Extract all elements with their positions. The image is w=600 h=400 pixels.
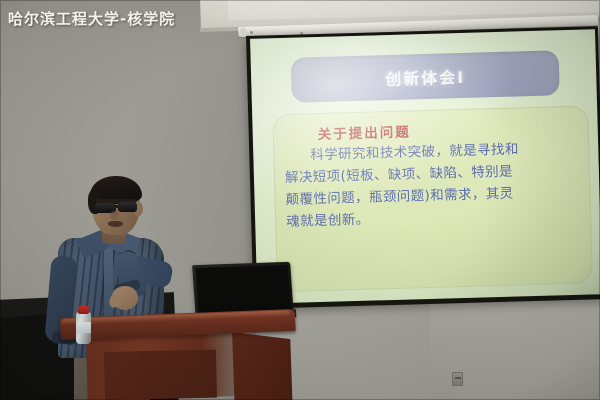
podium-side-face bbox=[232, 332, 293, 400]
glasses-right-lens-icon bbox=[118, 202, 137, 212]
projection-screen: 创新体会I 关于提出问题 科学研究和技术突破，就是寻找和 解决短项(短板、缺项、… bbox=[246, 26, 600, 309]
speaker-nose bbox=[110, 211, 119, 220]
wall-socket-icon bbox=[452, 372, 463, 386]
slide-body-box: 关于提出问题 科学研究和技术突破，就是寻找和 解决短项(短板、缺项、缺陷、特别是… bbox=[272, 105, 593, 292]
wall-socket-slot bbox=[455, 377, 461, 379]
speaker-mouth bbox=[108, 221, 123, 227]
water-bottle-cap bbox=[78, 306, 89, 314]
roller-screw bbox=[250, 31, 253, 34]
presentation-slide: 创新体会I 关于提出问题 科学研究和技术突破，就是寻找和 解决短项(短板、缺项、… bbox=[250, 29, 600, 304]
lecture-photo: 创新体会I 关于提出问题 科学研究和技术突破，就是寻找和 解决短项(短板、缺项、… bbox=[0, 0, 600, 400]
podium-lower-panel bbox=[104, 350, 217, 400]
slide-title-banner: 创新体会I bbox=[291, 50, 560, 102]
projection-screen-surface: 创新体会I 关于提出问题 科学研究和技术突破，就是寻找和 解决短项(短板、缺项、… bbox=[250, 29, 600, 304]
glasses-bridge bbox=[115, 205, 119, 208]
watermark-text: 哈尔滨工程大学-核学院 bbox=[8, 8, 175, 29]
slide-title: 创新体会I bbox=[385, 63, 466, 89]
water-bottle-label bbox=[76, 322, 91, 333]
